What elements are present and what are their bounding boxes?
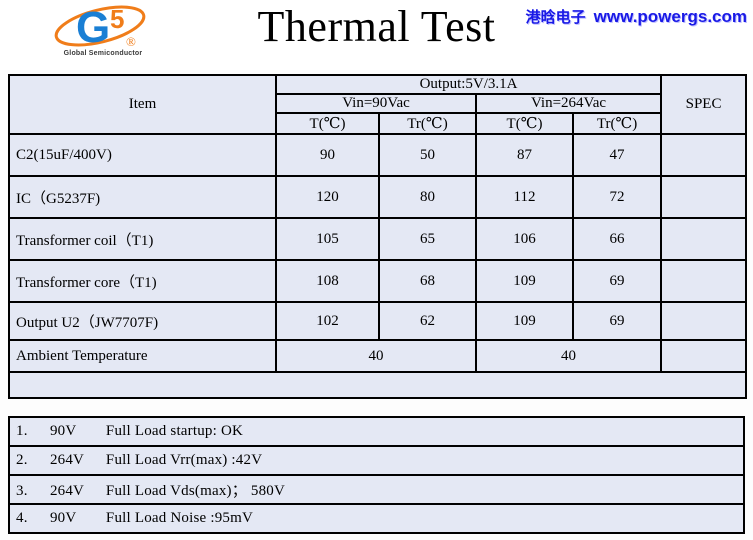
ambient-spec [661,340,746,372]
table-row: Transformer coil（T1) 105 65 106 66 [9,218,746,260]
row-spec [661,176,746,218]
row-tr-264: 69 [573,302,661,340]
note-number: 2. [16,452,46,469]
header-vin-90: Vin=90Vac [276,94,476,113]
row-t-90: 102 [276,302,379,340]
row-tr-90: 62 [379,302,476,340]
logo-caption: Global Semiconductor [48,50,158,57]
table-row: Output U2（JW7707F) 102 62 109 69 [9,302,746,340]
row-spec [661,260,746,302]
note-text: Full Load Noise :95mV [106,510,253,526]
row-t-90: 120 [276,176,379,218]
note-row: 2. 264V Full Load Vrr(max) :42V [9,446,744,475]
ambient-temperature-row: Ambient Temperature 40 40 [9,340,746,372]
row-tr-264: 66 [573,218,661,260]
row-t-90: 108 [276,260,379,302]
row-tr-264: 69 [573,260,661,302]
svg-text:5: 5 [110,4,124,34]
table-row: IC（G5237F) 120 80 112 72 [9,176,746,218]
header-t-264: T(℃) [476,113,573,134]
company-logo: G 5 ® Global Semiconductor [48,2,158,68]
row-item: Output U2（JW7707F) [9,302,276,340]
note-number: 4. [16,510,46,527]
note-number: 1. [16,423,46,440]
row-item: Transformer core（T1) [9,260,276,302]
table-header-row-1: Item Output:5V/3.1A SPEC [9,75,746,94]
note-row: 1. 90V Full Load startup: OK [9,417,744,446]
header-spec: SPEC [661,75,746,134]
note-voltage: 90V [50,423,102,440]
row-item: C2(15uF/400V) [9,134,276,176]
page-header: Thermal Test G 5 ® Global Semiconductor … [0,0,753,70]
row-tr-90: 68 [379,260,476,302]
note-item: 1. 90V Full Load startup: OK [9,417,744,446]
note-row: 3. 264V Full Load Vds(max)； 580V [9,475,744,504]
note-item: 2. 264V Full Load Vrr(max) :42V [9,446,744,475]
header-tr-90: Tr(℃) [379,113,476,134]
note-text: Full Load startup: OK [106,423,243,439]
svg-text:G: G [76,3,110,50]
ambient-value-264: 40 [476,340,661,372]
note-text: Full Load Vrr(max) :42V [106,452,262,468]
header-tr-264: Tr(℃) [573,113,661,134]
watermark-cn: 港晗电子 [526,6,586,27]
row-t-264: 87 [476,134,573,176]
header-item: Item [9,75,276,134]
row-t-264: 112 [476,176,573,218]
note-item: 4. 90V Full Load Noise :95mV [9,504,744,533]
note-item: 3. 264V Full Load Vds(max)； 580V [9,475,744,504]
row-item: Transformer coil（T1) [9,218,276,260]
note-voltage: 264V [50,483,102,500]
note-voltage: 90V [50,510,102,527]
ambient-label: Ambient Temperature [9,340,276,372]
notes-table: 1. 90V Full Load startup: OK 2. 264V Ful… [8,416,745,534]
note-text: Full Load Vds(max)； 580V [106,483,285,499]
table-row: Transformer core（T1) 108 68 109 69 [9,260,746,302]
row-t-264: 109 [476,260,573,302]
row-t-90: 90 [276,134,379,176]
row-t-264: 106 [476,218,573,260]
spacer-row [9,372,746,398]
site-watermark: 港晗电子 www.powergs.com [526,6,747,27]
thermal-test-table: Item Output:5V/3.1A SPEC Vin=90Vac Vin=2… [8,74,747,399]
table-row: C2(15uF/400V) 90 50 87 47 [9,134,746,176]
header-output: Output:5V/3.1A [276,75,661,94]
row-t-90: 105 [276,218,379,260]
note-number: 3. [16,483,46,500]
watermark-url: www.powergs.com [594,7,747,27]
header-t-90: T(℃) [276,113,379,134]
row-tr-264: 72 [573,176,661,218]
svg-text:®: ® [126,34,136,49]
row-item: IC（G5237F) [9,176,276,218]
row-tr-264: 47 [573,134,661,176]
row-tr-90: 80 [379,176,476,218]
row-spec [661,218,746,260]
logo-mark-icon: G 5 ® [48,2,158,50]
row-t-264: 109 [476,302,573,340]
row-tr-90: 65 [379,218,476,260]
note-voltage: 264V [50,452,102,469]
row-spec [661,302,746,340]
header-vin-264: Vin=264Vac [476,94,661,113]
note-row: 4. 90V Full Load Noise :95mV [9,504,744,533]
spacer-cell [9,372,746,398]
row-tr-90: 50 [379,134,476,176]
ambient-value-90: 40 [276,340,476,372]
row-spec [661,134,746,176]
